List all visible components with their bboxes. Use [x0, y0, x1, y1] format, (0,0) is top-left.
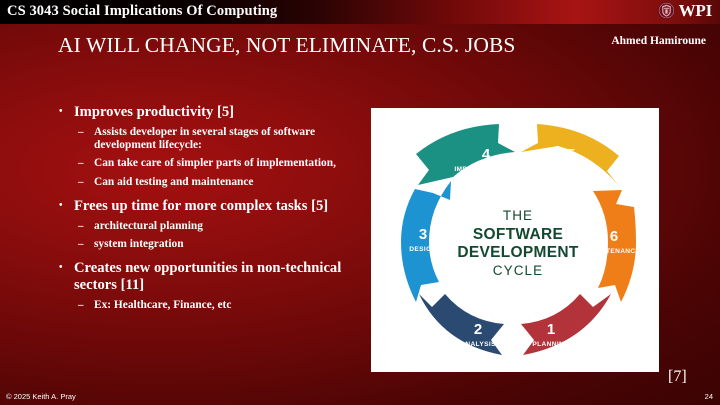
- bullet-marker-icon: •: [59, 198, 63, 214]
- segment-1-label: PLANNING: [532, 341, 569, 348]
- sub-bullet-item: – Ex: Healthcare, Finance, etc: [56, 299, 368, 312]
- software-development-cycle-diagram: 1 PLANNING 2 ANALYSIS 3 DESIGN 4 IMPLEME…: [371, 108, 659, 372]
- segment-5-label-line2: INTEGRATION: [547, 182, 596, 189]
- wpi-seal-icon: [657, 1, 676, 20]
- wpi-wordmark: WPI: [679, 1, 712, 20]
- sub-bullet-item: – system integration: [56, 238, 368, 251]
- copyright-notice: © 2025 Keith A. Pray: [6, 392, 76, 401]
- dash-marker-icon: –: [78, 238, 84, 251]
- center-line-4: CYCLE: [493, 263, 544, 278]
- center-line-3: DEVELOPMENT: [457, 244, 579, 261]
- bullet-item: • Frees up time for more complex tasks […: [56, 198, 368, 215]
- segment-1-number: 1: [547, 321, 555, 338]
- course-title: CS 3043 Social Implications Of Computing: [7, 3, 277, 20]
- segment-3-label: DESIGN: [409, 246, 436, 253]
- segment-2-label: ANALYSIS: [460, 341, 496, 348]
- dash-marker-icon: –: [78, 157, 84, 170]
- wpi-logo: WPI: [657, 1, 712, 20]
- bullet-text: Creates new opportunities in non-technic…: [74, 260, 341, 293]
- page-title: AI WILL CHANGE, NOT ELIMINATE, C.S. JOBS: [58, 33, 538, 58]
- segment-3-number: 3: [419, 226, 427, 243]
- bullet-item: • Improves productivity [5]: [56, 104, 368, 121]
- bullet-item: • Creates new opportunities in non-techn…: [56, 260, 368, 294]
- center-line-1: THE: [503, 208, 533, 223]
- segment-2-number: 2: [474, 321, 482, 338]
- segment-4-number: 4: [482, 146, 491, 163]
- author-name: Ahmed Hamiroune: [611, 35, 706, 47]
- dash-marker-icon: –: [78, 126, 84, 139]
- sub-bullet-item: – Can take care of simpler parts of impl…: [56, 157, 368, 170]
- sub-bullet-text: Ex: Healthcare, Finance, etc: [94, 299, 231, 311]
- sub-bullet-item: – Can aid testing and maintenance: [56, 176, 368, 189]
- sub-bullet-text: architectural planning: [94, 220, 203, 232]
- sub-bullet-item: – Assists developer in several stages of…: [56, 126, 368, 152]
- slide: CS 3043 Social Implications Of Computing…: [0, 0, 720, 405]
- segment-6-number: 6: [610, 228, 618, 245]
- segment-4-label: IMPLEMENTATION: [454, 166, 517, 173]
- segment-5-number: 5: [567, 146, 575, 163]
- sub-bullet-text: system integration: [94, 238, 184, 250]
- segment-5-label-line1: TESTING &: [552, 169, 590, 176]
- dash-marker-icon: –: [78, 299, 84, 312]
- center-line-2: SOFTWARE: [473, 226, 563, 243]
- header-bar: CS 3043 Social Implications Of Computing…: [0, 0, 720, 24]
- sub-bullet-text: Assists developer in several stages of s…: [94, 126, 315, 151]
- dash-marker-icon: –: [78, 176, 84, 189]
- sub-bullet-text: Can aid testing and maintenance: [94, 176, 254, 188]
- bullet-marker-icon: •: [59, 260, 63, 276]
- dash-marker-icon: –: [78, 220, 84, 233]
- bullet-text: Frees up time for more complex tasks [5]: [74, 198, 328, 214]
- segment-6-label: MAINTENANCE: [588, 248, 641, 255]
- image-citation: [7]: [668, 368, 687, 386]
- bullet-list: • Improves productivity [5] – Assists de…: [56, 104, 368, 312]
- sub-bullet-text: Can take care of simpler parts of implem…: [94, 157, 336, 169]
- bullet-marker-icon: •: [59, 104, 63, 120]
- slide-number: 24: [705, 392, 713, 401]
- bullet-text: Improves productivity [5]: [74, 104, 234, 120]
- segment-6-maintenance: [593, 190, 636, 302]
- sub-bullet-item: – architectural planning: [56, 220, 368, 233]
